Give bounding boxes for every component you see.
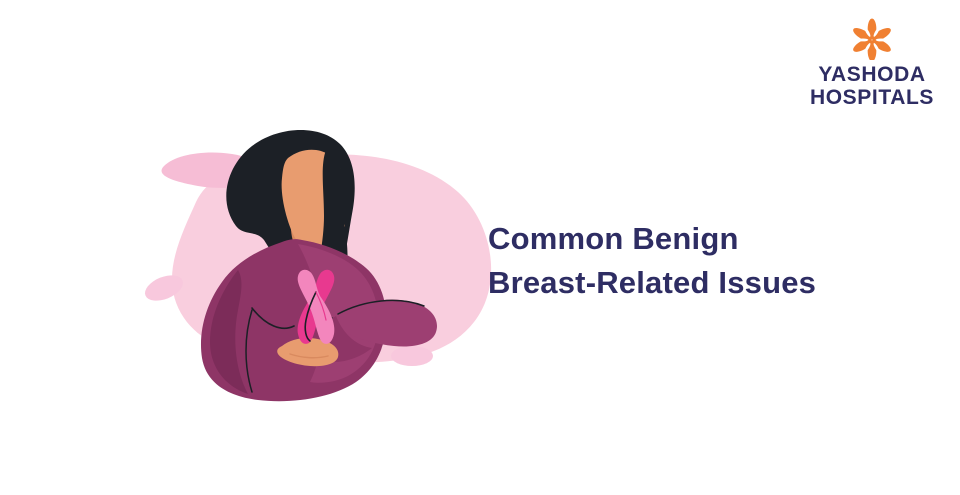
page-title-line-2: Breast-Related Issues <box>488 261 888 305</box>
page-title-line-1: Common Benign <box>488 217 888 261</box>
woman-breast-health-illustration <box>140 110 500 410</box>
accent-blob-right-oval <box>391 346 433 366</box>
page-title: Common Benign Breast-Related Issues <box>488 217 888 305</box>
logo-word-hospitals: HOSPITALS <box>806 87 938 108</box>
flower-icon <box>849 18 895 60</box>
logo-word-yashoda: YASHODA <box>806 64 938 85</box>
yashoda-hospitals-logo[interactable]: YASHODA HOSPITALS <box>806 18 938 108</box>
banner-root: YASHODA HOSPITALS <box>0 0 960 495</box>
